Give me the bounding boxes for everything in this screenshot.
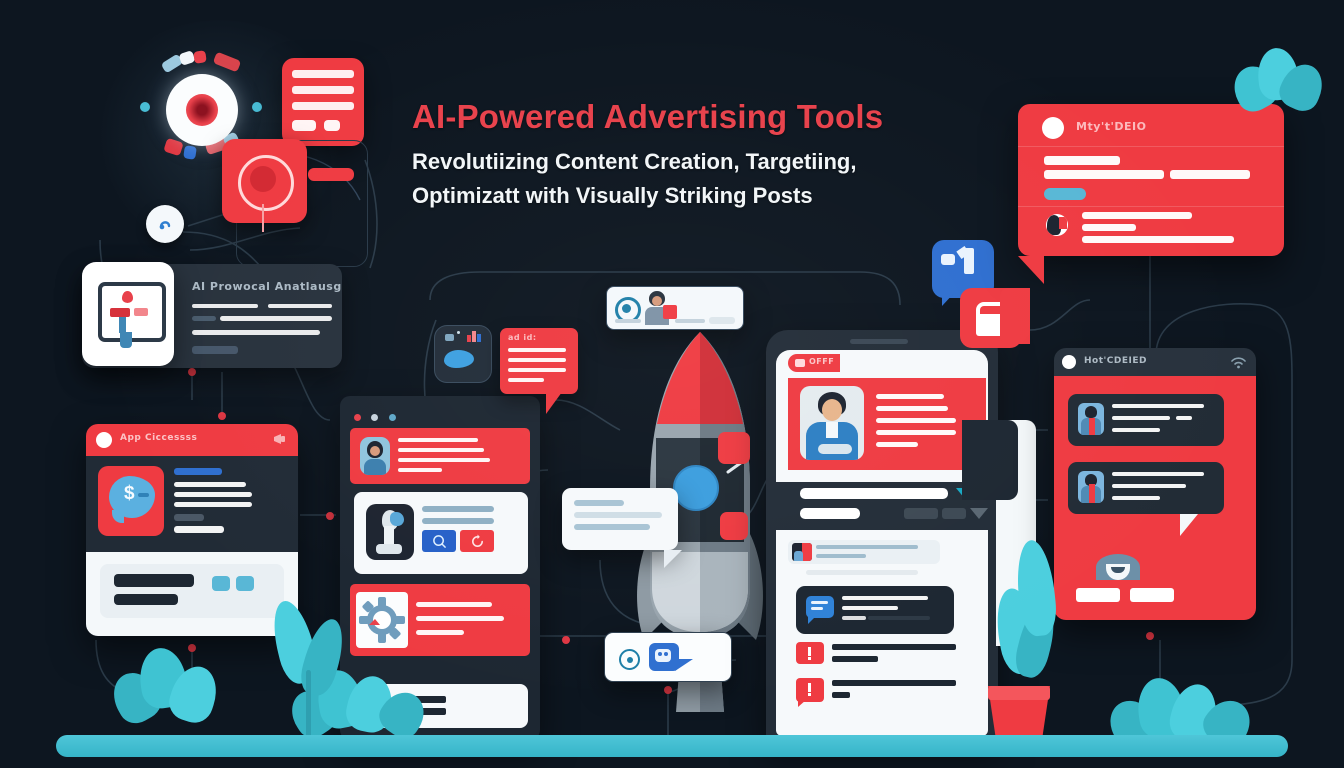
bush-top-right <box>1224 34 1334 126</box>
mini-eye-card[interactable] <box>604 632 732 682</box>
woman-avatar-icon <box>360 437 390 475</box>
bubble-side-tab <box>1000 288 1030 344</box>
window-dot-minimize[interactable] <box>371 414 378 421</box>
note-chip[interactable] <box>292 120 316 131</box>
footer-line <box>114 594 178 605</box>
floating-red-square[interactable] <box>718 432 750 464</box>
eye-icon <box>619 649 640 670</box>
tag-chip[interactable] <box>1044 188 1086 200</box>
text-line <box>1112 404 1204 408</box>
text-line <box>508 378 544 382</box>
phone-back-dark <box>962 420 1018 500</box>
phone-input[interactable] <box>800 488 948 499</box>
text-line <box>422 506 494 512</box>
panel-header-label: Hot'CDEIED <box>1084 356 1147 366</box>
poster-canvas: AI Prowocal Anatlausg App Ciccessss <box>0 0 1344 768</box>
text-line <box>398 438 478 442</box>
ai-analysis-title: AI Prowocal Anatlausg <box>192 280 342 293</box>
bush-left <box>110 630 240 738</box>
brand-mark-icon <box>96 432 112 448</box>
text-line <box>574 512 662 518</box>
text-line <box>416 616 504 621</box>
text-line <box>174 482 246 487</box>
media-thumb[interactable]: $ <box>98 466 164 536</box>
phone-input[interactable] <box>800 508 860 519</box>
card-header: App Ciccessss <box>86 424 298 456</box>
note-tail <box>664 550 682 568</box>
floating-red-square[interactable] <box>720 512 748 540</box>
brand-mark-icon <box>1062 355 1076 369</box>
text-line <box>806 570 918 575</box>
phone-hero-card[interactable] <box>788 378 986 470</box>
chevron-down-icon[interactable] <box>970 508 988 519</box>
text-line <box>876 394 944 399</box>
leaf-left <box>1014 540 1064 660</box>
text-line <box>1082 212 1192 219</box>
avatar-circle-icon <box>1042 117 1064 139</box>
feed-row-white[interactable] <box>354 492 528 574</box>
text-line <box>876 418 956 423</box>
text-line <box>422 518 494 524</box>
phone-comment-card[interactable] <box>796 586 954 634</box>
megaphone-icon <box>272 432 288 446</box>
video-camera-icon <box>795 359 805 367</box>
text-line <box>192 316 216 321</box>
note-line <box>292 70 354 78</box>
note-line <box>292 102 354 110</box>
rocket-note-card[interactable] <box>562 488 678 550</box>
text-line <box>1082 236 1234 243</box>
text-line <box>832 680 956 686</box>
text-line <box>868 616 930 620</box>
panel-header: Hot'CDEIED <box>1054 348 1256 376</box>
text-line <box>192 330 320 335</box>
search-circle-icon[interactable] <box>422 530 456 552</box>
footer-button[interactable] <box>1130 588 1174 602</box>
feed-row-red[interactable] <box>350 584 530 656</box>
floor-bar <box>56 735 1288 757</box>
phone-chip[interactable] <box>904 508 938 519</box>
text-line <box>220 316 332 321</box>
text-line <box>192 304 258 308</box>
target-stem <box>262 204 264 232</box>
text-line <box>508 358 566 362</box>
top-right-bubble-header: Mty't'DEIO <box>1076 120 1146 133</box>
text-line <box>876 442 918 447</box>
headline-block: AI-Powered Advertising Tools Revolutiizi… <box>412 100 1012 213</box>
presentation-chart-icon <box>98 282 166 342</box>
feed-row-red[interactable] <box>350 428 530 484</box>
alert-icon[interactable] <box>796 678 824 702</box>
footer-button[interactable] <box>236 576 254 591</box>
man-avatar-icon <box>800 386 864 460</box>
text-line <box>398 458 490 462</box>
text-line <box>832 692 850 698</box>
text-line <box>842 606 898 610</box>
text-line <box>1112 428 1160 432</box>
tag-chip <box>174 468 222 475</box>
smile-badge-icon <box>1096 554 1140 580</box>
window-controls[interactable] <box>354 408 402 426</box>
message-card[interactable] <box>1068 462 1224 514</box>
text-line <box>1044 170 1164 179</box>
phone-hero-sheet: OFFF <box>776 350 988 482</box>
note-chip[interactable] <box>324 120 340 131</box>
small-red-bubble[interactable]: ad id: <box>500 328 578 394</box>
text-line <box>1112 472 1204 476</box>
text-line <box>174 502 252 507</box>
text-line <box>816 554 866 558</box>
bubble-tail <box>1018 256 1044 284</box>
panel-body <box>1054 376 1256 620</box>
text-line <box>876 406 948 411</box>
small-bubble-header: ad id: <box>508 333 537 342</box>
ring-core-center <box>186 94 218 126</box>
speech-bubble-icon <box>941 254 955 265</box>
text-line <box>842 616 866 620</box>
text-chip[interactable] <box>192 346 238 354</box>
text-line <box>1112 496 1160 500</box>
target-center <box>250 166 276 192</box>
text-line <box>1112 416 1170 420</box>
text-line <box>1176 416 1192 420</box>
small-avatar-icon <box>1046 214 1068 236</box>
text-line <box>398 448 484 452</box>
alert-icon[interactable] <box>796 642 824 664</box>
footer-line <box>114 574 194 587</box>
text-line <box>574 500 624 506</box>
message-tail <box>1180 514 1198 536</box>
phone-list <box>776 530 988 736</box>
phone-speaker <box>850 339 908 344</box>
window-dot-maximize[interactable] <box>389 414 396 421</box>
text-line <box>832 644 956 650</box>
top-right-bubble[interactable]: Mty't'DEIO <box>1018 104 1284 256</box>
bottom-right-panel[interactable]: Hot'CDEIED <box>1054 348 1256 620</box>
list-item[interactable] <box>788 540 940 564</box>
phone-badge[interactable]: OFFF <box>788 354 840 372</box>
person-avatar-icon <box>1078 403 1104 435</box>
note-line <box>292 86 354 94</box>
message-card[interactable] <box>1068 394 1224 446</box>
phone-badge-label: OFFF <box>809 357 834 366</box>
page-subtitle-line2: Optimizatt with Visually Striking Posts <box>412 179 1012 213</box>
footer-panel <box>100 564 284 618</box>
footer-button[interactable] <box>1076 588 1120 602</box>
phone-controls <box>776 482 988 530</box>
text-line <box>416 630 464 635</box>
text-line <box>174 492 252 497</box>
card-body: $ <box>86 456 298 552</box>
top-left-red-note[interactable] <box>282 58 364 146</box>
text-chip <box>174 514 204 521</box>
user-photo-icon <box>792 543 812 561</box>
text-line <box>876 430 956 435</box>
text-line <box>1082 224 1136 231</box>
text-line <box>268 304 332 308</box>
text-line <box>1044 156 1120 165</box>
bubble-tail <box>546 392 562 414</box>
window-dot-close[interactable] <box>354 414 361 421</box>
text-line <box>398 468 442 472</box>
text-line <box>1170 170 1250 179</box>
leaf-tall <box>266 600 356 740</box>
text-line <box>174 526 224 533</box>
text-line <box>416 602 492 607</box>
text-line <box>508 368 566 372</box>
footer-button[interactable] <box>212 576 230 591</box>
mini-pill[interactable] <box>308 168 354 181</box>
text-line <box>508 348 566 352</box>
statue-hand-icon <box>366 504 414 560</box>
text-line <box>816 545 918 549</box>
divider <box>1018 206 1284 207</box>
person-avatar-icon <box>1078 471 1104 503</box>
wifi-icon <box>1231 356 1246 374</box>
phone-chip[interactable] <box>942 508 966 519</box>
card-header-label: App Ciccessss <box>120 433 197 443</box>
text-line <box>1112 484 1186 488</box>
gear-icon <box>356 592 408 648</box>
bar-chart-pin-icon[interactable] <box>434 325 492 383</box>
page-subtitle-line1: Revolutiizing Content Creation, Targetii… <box>412 145 1012 179</box>
text-line <box>832 656 878 662</box>
text-line <box>574 524 650 530</box>
divider <box>1018 146 1284 147</box>
phone-frame[interactable]: OFFF <box>766 330 998 742</box>
text-line <box>842 596 928 600</box>
refresh-icon[interactable] <box>460 530 494 552</box>
link-circle-icon[interactable] <box>146 205 184 243</box>
page-title: AI-Powered Advertising Tools <box>412 100 1012 135</box>
ai-analysis-icon-tile <box>82 262 174 366</box>
chat-bubble-icon <box>806 596 834 618</box>
